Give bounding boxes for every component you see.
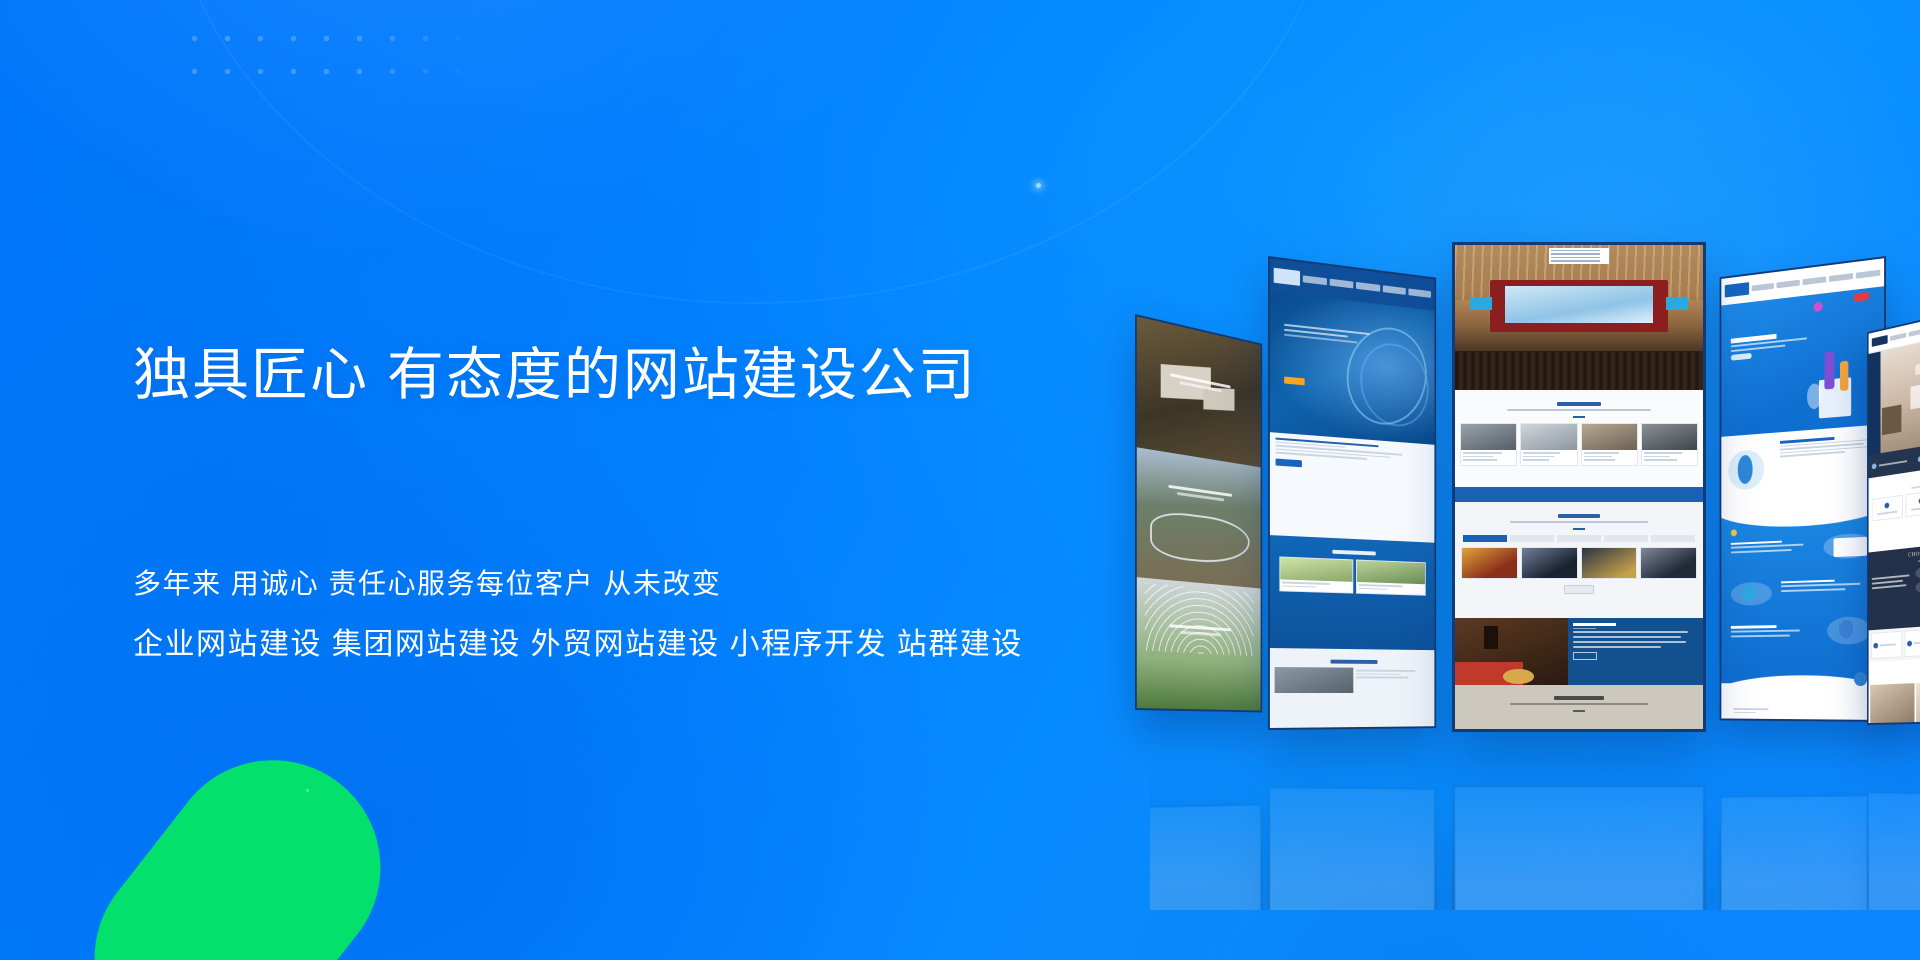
section-company-intro (1455, 618, 1703, 686)
hero-banner: 独具匠心 有态度的网站建设公司 多年来 用诚心 责任心服务每位客户 从未改变 企… (0, 0, 1920, 960)
section-product-intro (1455, 502, 1703, 618)
site-logo (1274, 268, 1300, 286)
feature-card[interactable] (1872, 495, 1903, 521)
banner-copy: 独具匠心 有态度的网站建设公司 (133, 340, 1073, 411)
card-item[interactable] (1279, 557, 1352, 594)
screen-auditorium-theater-site[interactable] (1452, 242, 1706, 732)
tab[interactable] (1510, 535, 1554, 542)
screen-aerial-project-site[interactable] (1135, 314, 1262, 712)
card-item[interactable] (1581, 423, 1638, 466)
product-card[interactable] (1521, 547, 1578, 579)
screen-biotech-dna-site[interactable] (1268, 256, 1436, 730)
montage-reflection (1150, 720, 1920, 910)
screen-interior-design-site[interactable]: DESIGN CHOOSE OUR REASON (1867, 298, 1920, 725)
green-capsule-shape (51, 717, 424, 960)
tab[interactable] (1604, 535, 1648, 542)
card-item[interactable] (1460, 423, 1517, 466)
detail-button[interactable] (1573, 652, 1597, 660)
product-card[interactable] (1461, 547, 1518, 579)
product-card[interactable] (1640, 547, 1697, 579)
screen-education-english-site[interactable] (1720, 256, 1886, 722)
hero-auditorium-photo (1455, 245, 1703, 390)
feature-card[interactable] (1905, 490, 1920, 517)
stat-card[interactable] (1871, 631, 1902, 659)
section-stage-products (1455, 685, 1703, 729)
section-company-profile (1455, 390, 1703, 487)
card-item[interactable] (1356, 560, 1426, 596)
floating-menu[interactable] (1549, 248, 1609, 264)
hero-illustration (1721, 286, 1884, 437)
banner-sublines: 多年来 用诚心 责任心服务每位客户 从未改变 企业网站建设 集团网站建设 外贸网… (133, 570, 1133, 660)
subtitle-line-2: 企业网站建设 集团网站建设 外贸网站建设 小程序开发 站群建设 (133, 630, 1133, 660)
light-sparkle (306, 789, 309, 792)
dot-grid-pattern (178, 22, 478, 74)
website-screens-montage: DESIGN CHOOSE OUR REASON (1150, 236, 1920, 796)
stat-card[interactable] (1905, 629, 1920, 657)
light-sparkle (1036, 183, 1041, 188)
card-item[interactable] (1520, 423, 1577, 466)
subtitle-line-1: 多年来 用诚心 责任心服务每位客户 从未改变 (133, 570, 1133, 598)
more-button[interactable] (1564, 585, 1594, 594)
hero-dna-illustration (1270, 291, 1434, 445)
tab[interactable] (1557, 535, 1601, 542)
tab[interactable] (1651, 535, 1695, 542)
tab-active[interactable] (1463, 535, 1507, 542)
product-card[interactable] (1581, 547, 1638, 579)
card-item[interactable] (1641, 423, 1698, 466)
page-title: 独具匠心 有态度的网站建设公司 (133, 340, 1073, 411)
